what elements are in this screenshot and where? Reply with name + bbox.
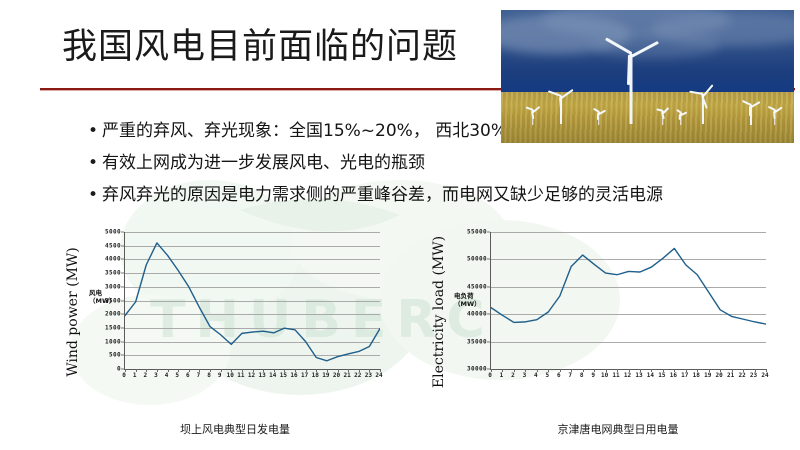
plot-area [490,232,766,370]
x-tick-label: 6 [186,372,190,379]
x-tick-label: 23 [750,372,757,379]
series-line [125,232,380,369]
x-tick-label: 8 [580,372,584,379]
x-tick-label: 5 [175,372,179,379]
x-tick-label: 16 [670,372,677,379]
x-tick-label: 24 [761,372,768,379]
x-axis-labels: 0123456789101112131415161718192021222324 [124,372,380,384]
y-tick-label: 45000 [467,283,487,290]
inner-label-line2: （MW） [454,300,481,308]
wind-turbine [749,105,752,125]
y-tick-label: 55000 [467,229,487,236]
x-tick-label: 13 [259,372,266,379]
x-tick-label: 4 [165,372,169,379]
x-tick-label: 3 [523,372,527,379]
y-tick-label: 50000 [467,256,487,263]
x-tick-label: 20 [333,372,340,379]
x-tick-label: 18 [312,372,319,379]
x-tick-label: 11 [237,372,244,379]
bullet-text: 有效上网成为进一步发展风电、光电的瓶颈 [102,150,425,177]
wind-farm-photo [501,10,794,143]
x-tick-label: 23 [365,372,372,379]
y-tick-label: 4500 [105,242,121,249]
series-line [491,232,766,369]
wind-turbine [559,96,562,124]
list-item: • 有效上网成为进一步发展风电、光电的瓶颈 [88,150,788,177]
bullet-marker-icon: • [88,150,102,177]
plot-area [124,232,380,370]
y-tick-label: 2000 [105,311,121,318]
x-tick-label: 21 [344,372,351,379]
list-item: • 弃风弃光的原因是电力需求侧的严重峰谷差，而电网又缺少足够的灵活电源 [88,182,788,209]
bullet-marker-icon: • [88,118,102,145]
wind-turbine [531,110,534,125]
x-tick-label: 7 [568,372,572,379]
wind-turbine-main [629,54,633,124]
x-axis-labels: 0123456789101112131415161718192021222324 [490,372,766,384]
ylabel-text: Electricity load (MW) [431,236,447,388]
x-tick-label: 1 [500,372,504,379]
wind-turbine [661,111,664,125]
x-tick-label: 17 [681,372,688,379]
electricity-load-chart: Electricity load (MW) 300003500040000450… [428,232,768,437]
x-tick-label: 19 [704,372,711,379]
x-tick-label: 13 [635,372,642,379]
x-tick-label: 15 [280,372,287,379]
inner-series-label-load: 电负荷 （MW） [454,292,481,308]
x-tick-label: 3 [154,372,158,379]
x-tick-label: 1 [133,372,137,379]
wind-turbine [773,110,776,125]
x-tick-label: 10 [601,372,608,379]
x-tick-label: 0 [488,372,492,379]
y-tick-label: 3500 [105,270,121,277]
inner-label-line2: （MW） [89,297,116,305]
bullet-text: 严重的弃风、弃光现象：全国15%~20%， 西北30% [102,118,507,145]
ylabel-text: Wind power (MW) [65,247,81,377]
x-tick-label: 2 [511,372,515,379]
chart-caption-wind: 坝上风电典型日发电量 [62,421,382,437]
x-tick-label: 24 [375,372,382,379]
y-tick-label: 30000 [467,366,487,373]
x-tick-label: 12 [624,372,631,379]
x-tick-label: 6 [557,372,561,379]
x-tick-label: 17 [301,372,308,379]
x-tick-label: 0 [122,372,126,379]
x-tick-label: 2 [143,372,147,379]
wind-turbine [597,112,600,125]
x-tick-label: 19 [322,372,329,379]
plot-wrap: 0500100015002000250030003500400045005000… [84,232,382,392]
y-tick-label: 1000 [105,338,121,345]
chart-ylabel-load: Electricity load (MW) [428,232,450,392]
x-tick-label: 21 [727,372,734,379]
x-tick-label: 14 [269,372,276,379]
y-tick-label: 35000 [467,338,487,345]
x-tick-label: 11 [612,372,619,379]
y-tick-label: 500 [109,352,121,359]
x-tick-label: 18 [693,372,700,379]
x-tick-label: 22 [738,372,745,379]
x-tick-label: 5 [545,372,549,379]
bullet-marker-icon: • [88,182,102,209]
x-tick-label: 12 [248,372,255,379]
wind-power-chart: Wind power (MW) 050010001500200025003000… [62,232,382,437]
x-tick-label: 10 [227,372,234,379]
x-tick-label: 7 [197,372,201,379]
y-tick-label: 4000 [105,256,121,263]
y-tick-label: 40000 [467,311,487,318]
x-tick-label: 20 [716,372,723,379]
wind-turbine [679,113,682,125]
x-tick-label: 14 [647,372,654,379]
bullet-text: 弃风弃光的原因是电力需求侧的严重峰谷差，而电网又缺少足够的灵活电源 [102,182,663,209]
chart-ylabel-wind: Wind power (MW) [62,232,84,392]
y-tick-label: 5000 [105,229,121,236]
plot-wrap: 300003500040000450005000055000 012345678… [450,232,768,392]
x-tick-label: 16 [290,372,297,379]
x-tick-label: 15 [658,372,665,379]
x-tick-label: 8 [207,372,211,379]
x-tick-label: 22 [354,372,361,379]
x-tick-label: 9 [591,372,595,379]
y-tick-label: 1500 [105,324,121,331]
x-tick-label: 4 [534,372,538,379]
wind-turbine [701,94,704,124]
inner-label-line1: 电负荷 [454,292,481,300]
x-tick-label: 9 [218,372,222,379]
chart-caption-load: 京津唐电网典型日用电量 [428,421,768,437]
inner-label-line1: 风电 [89,289,116,297]
inner-series-label-wind: 风电 （MW） [89,289,116,305]
